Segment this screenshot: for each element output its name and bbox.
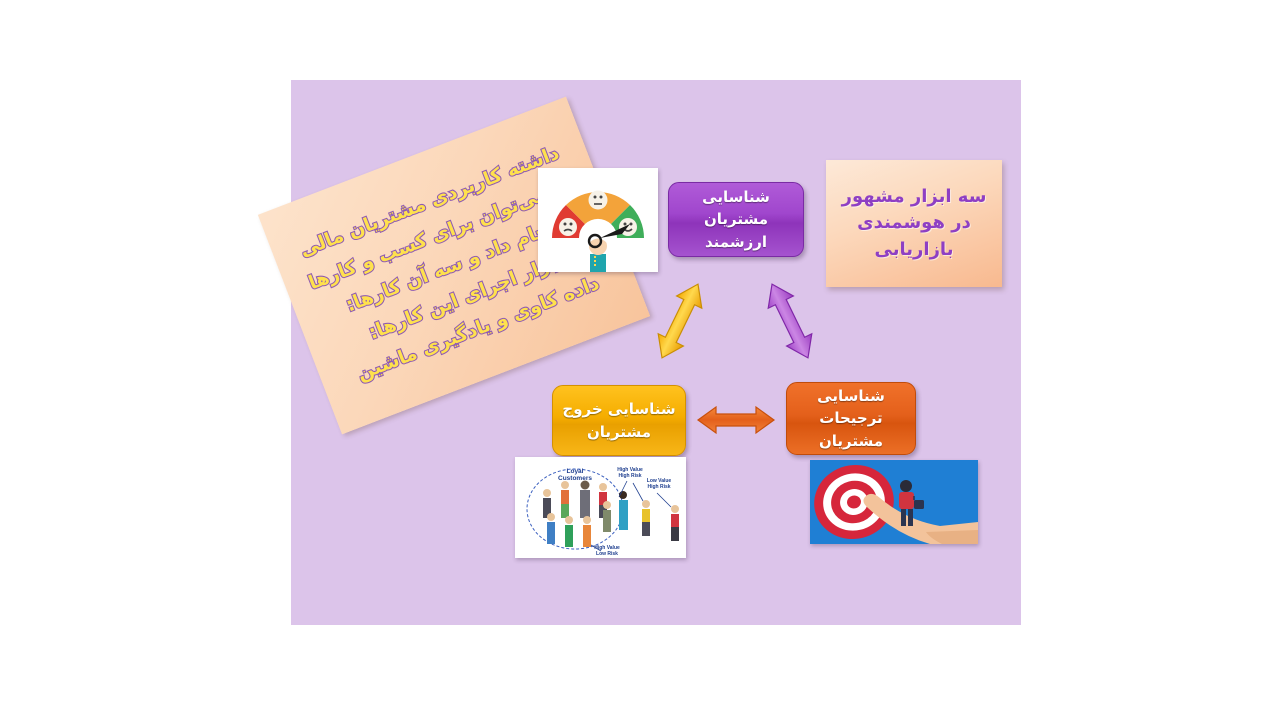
purple-diagonal-arrow: [760, 276, 820, 366]
yellow-diagonal-arrow: [650, 276, 710, 366]
orange-horizontal-arrow: [694, 400, 778, 440]
page-title: سه ابزار مشهور در هوشمندی بازاریابی: [832, 184, 996, 262]
svg-text:Low Risk: Low Risk: [596, 551, 618, 557]
svg-text:High Risk: High Risk: [647, 484, 670, 490]
svg-text:Loyal: Loyal: [567, 468, 584, 475]
slide-root: داشته کاربردی مشتریان مالی که می‌توان بر…: [0, 0, 1280, 720]
loyal-customers-image: Loyal Customers High Value: [515, 457, 686, 558]
box-customer-preferences[interactable]: شناسایی ترجیحات مشتریان: [786, 382, 916, 455]
satisfaction-gauge-image: [538, 168, 658, 272]
box-valuable-customers[interactable]: شناسایی مشتریان ارزشمند: [668, 182, 804, 257]
target-image: [810, 460, 978, 544]
svg-text:Customers: Customers: [558, 475, 592, 482]
title-card: سه ابزار مشهور در هوشمندی بازاریابی: [826, 160, 1002, 287]
box-label: شناسایی مشتریان ارزشمند: [678, 186, 794, 254]
svg-text:High Risk: High Risk: [618, 473, 641, 479]
box-label: شناسایی خروج مشتریان: [562, 398, 676, 443]
box-label: شناسایی ترجیحات مشتریان: [796, 385, 906, 453]
box-customer-churn[interactable]: شناسایی خروج مشتریان: [552, 385, 686, 456]
